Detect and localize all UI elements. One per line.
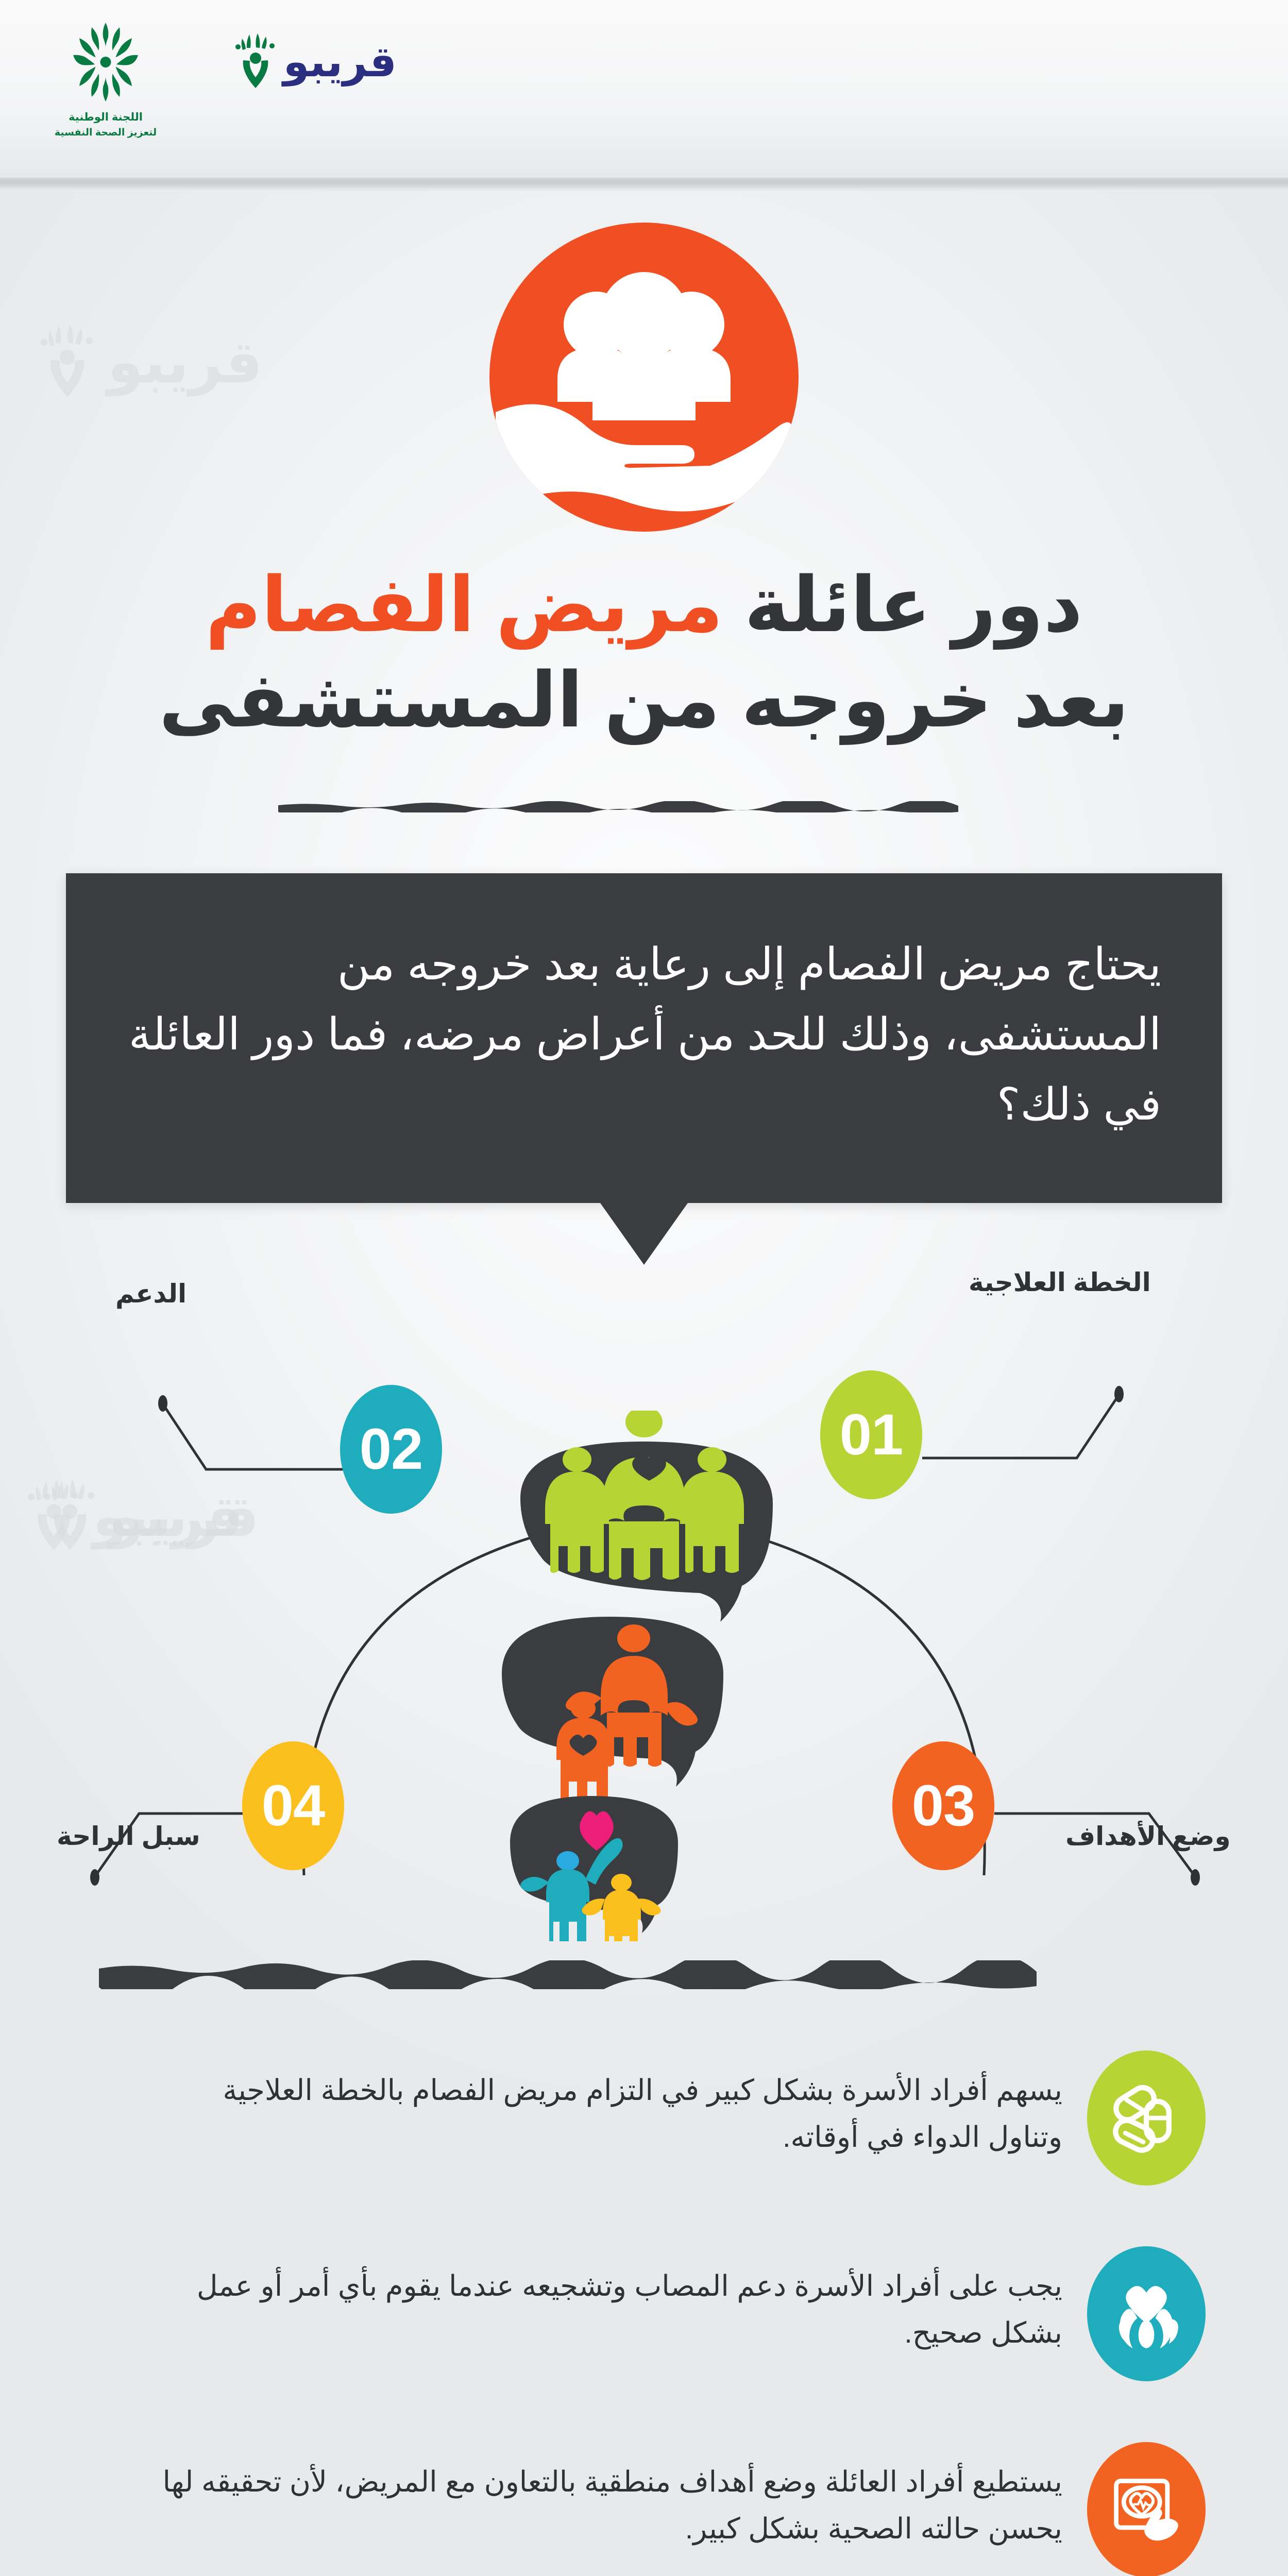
- node-number: 01: [840, 1406, 903, 1464]
- org-name-line1: اللجنة الوطنية: [46, 111, 165, 124]
- page-title: دور عائلة مريض الفصام بعد خروجه من المست…: [0, 559, 1288, 747]
- list-item-text: يستطيع أفراد العائلة وضع أهداف منطقية با…: [155, 2432, 1062, 2552]
- tablet-heartbeat-touch-icon: [1087, 2442, 1206, 2576]
- heart-in-hands-glyph: [1109, 2276, 1184, 2351]
- title-line-1: دور عائلة مريض الفصام: [0, 559, 1288, 652]
- three-speech-bubbles-family-icon: [479, 1411, 809, 1941]
- heart-in-hands-icon: [1087, 2246, 1206, 2381]
- tablet-heartbeat-glyph: [1109, 2472, 1184, 2547]
- list-item: يجب على أفراد الأسرة دعم المصاب وتشجيعه …: [0, 2236, 1288, 2432]
- list-item-text: يجب على أفراد الأسرة دعم المصاب وتشجيعه …: [155, 2236, 1062, 2356]
- national-committee-logo: اللجنة الوطنية لتعزيز الصحة النفسية: [46, 20, 165, 159]
- bubbles-glyph: [479, 1411, 809, 1941]
- list-item-text: يسهم أفراد الأسرة بشكل كبير في التزام مر…: [155, 2040, 1062, 2160]
- nchm-emblem-icon: [67, 20, 144, 105]
- hand-holding-people-icon: [489, 223, 799, 532]
- hand-holding-people-glyph: [489, 223, 799, 532]
- title-highlight: مريض الفصام: [206, 563, 723, 648]
- diagram-label-03: وضع الأهداف: [1065, 1821, 1231, 1851]
- diagram-node-04[interactable]: 04: [242, 1741, 344, 1870]
- pills-glyph: [1109, 2080, 1184, 2156]
- pills-icon: [1087, 2050, 1206, 2185]
- diagram-label-04: سبل الراحة: [57, 1821, 200, 1851]
- diagram-node-02[interactable]: 02: [340, 1385, 442, 1514]
- org-name-line2: لتعزيز الصحة النفسية: [46, 127, 165, 139]
- roles-list: يسهم أفراد الأسرة بشكل كبير في التزام مر…: [0, 2040, 1288, 2576]
- title-line-2: بعد خروجه من المستشفى: [0, 654, 1288, 748]
- node-number: 02: [360, 1420, 423, 1478]
- callout-tail: [600, 1203, 688, 1265]
- brand-logo: قريبو: [242, 24, 397, 101]
- title-prefix: دور عائلة: [723, 563, 1083, 648]
- diagram-label-01: الخطة العلاجية: [969, 1267, 1151, 1297]
- brand-name: قريبو: [283, 41, 397, 83]
- diagram-label-02: الدعم: [115, 1279, 187, 1309]
- title-underline: [278, 801, 1010, 812]
- list-item: يستطيع أفراد العائلة وضع أهداف منطقية با…: [0, 2432, 1288, 2576]
- infographic-page: اللجنة الوطنية لتعزيز الصحة النفسية قريب…: [0, 0, 1288, 2576]
- page-header: اللجنة الوطنية لتعزيز الصحة النفسية قريب…: [0, 0, 1288, 178]
- callout-text: يحتاج مريض الفصام إلى رعاية بعد خروجه من…: [127, 930, 1161, 1140]
- wavy-underline-icon: [278, 801, 1010, 812]
- list-item: يسهم أفراد الأسرة بشكل كبير في التزام مر…: [0, 2040, 1288, 2236]
- node-number: 04: [262, 1777, 325, 1835]
- watermark-text: قريبو: [107, 334, 262, 392]
- wavy-divider-icon: [99, 1960, 1189, 1989]
- node-number: 03: [912, 1777, 975, 1835]
- diagram-node-03[interactable]: 03: [892, 1741, 994, 1870]
- watermark-logo-icon: [37, 321, 101, 404]
- diagram-node-01[interactable]: 01: [820, 1370, 922, 1499]
- four-role-diagram: 01 02 03 04 الخطة العلاجية الدعم وضع الأ…: [0, 1267, 1288, 1999]
- watermark: قريبو: [37, 321, 263, 404]
- header-divider: [0, 178, 1288, 191]
- wavy-divider: [99, 1960, 1189, 1989]
- qaribo-people-check-icon: [233, 31, 280, 93]
- question-callout: يحتاج مريض الفصام إلى رعاية بعد خروجه من…: [66, 873, 1222, 1203]
